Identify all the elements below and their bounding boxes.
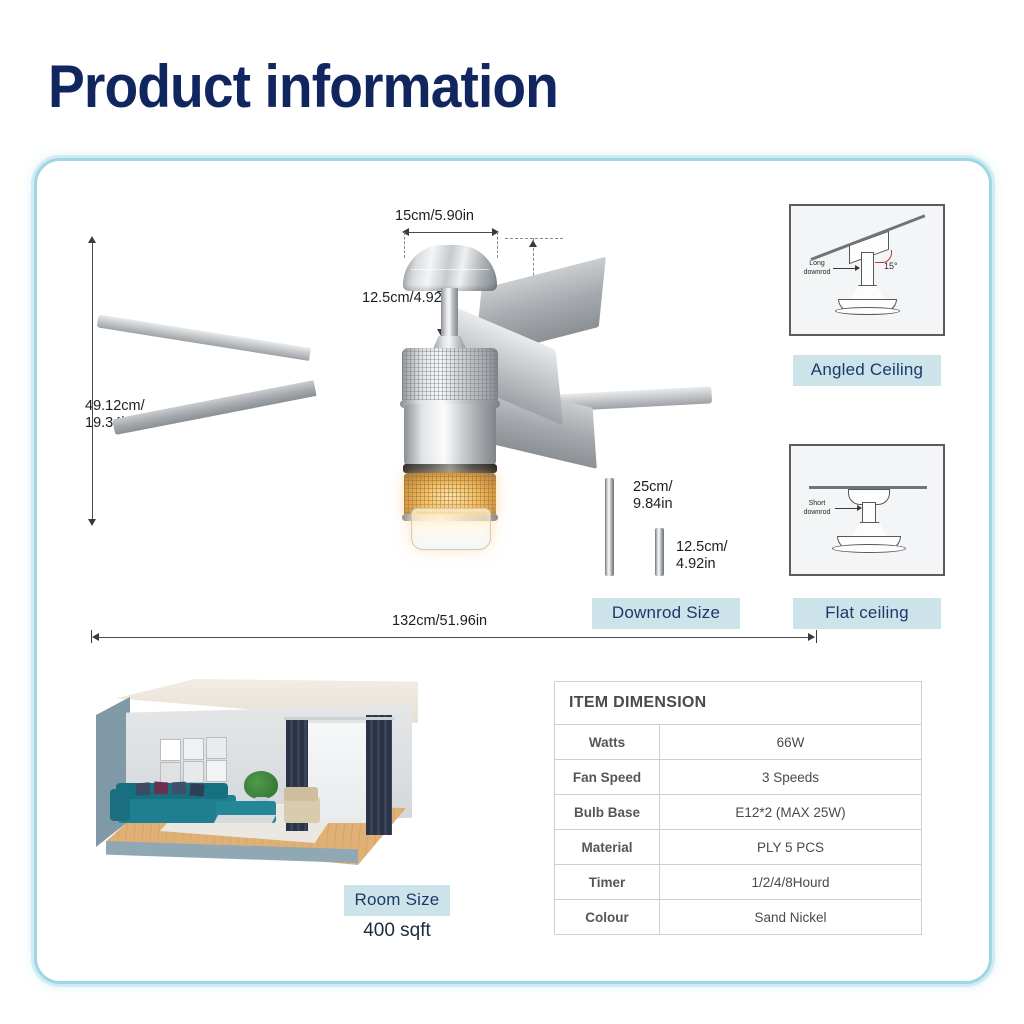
picture-frame — [183, 738, 204, 760]
table-row: Bulb Base E12*2 (MAX 25W) — [555, 795, 922, 830]
row-value-bulb-base: E12*2 (MAX 25W) — [660, 795, 922, 830]
blade-span-label: 132cm/51.96in — [392, 613, 487, 630]
picture-frame — [206, 737, 227, 759]
row-value-colour: Sand Nickel — [660, 900, 922, 935]
downrod-long — [605, 478, 614, 576]
row-value-fan-speed: 3 Speeds — [660, 760, 922, 795]
room-size-value: 400 sqft — [344, 920, 450, 942]
picture-frame — [183, 761, 204, 783]
row-key-colour: Colour — [555, 900, 660, 935]
throw-pillow — [135, 782, 150, 795]
sofa-arm — [110, 789, 130, 821]
ceiling-fan-illustration — [300, 230, 630, 540]
span-cap-left — [91, 630, 92, 643]
room-plant — [244, 771, 278, 799]
span-cap-right — [816, 630, 817, 643]
table-row: Fan Speed 3 Speeds — [555, 760, 922, 795]
fan-glass-dome — [411, 508, 491, 550]
page-title: Product information — [48, 52, 558, 121]
angled-downrod — [861, 252, 874, 289]
downrod-size-badge: Downrod Size — [592, 598, 740, 629]
angled-label-arrow — [855, 265, 860, 271]
row-key-watts: Watts — [555, 725, 660, 760]
angled-ceiling-badge: Angled Ceiling — [793, 355, 941, 386]
gallery-wall — [160, 737, 228, 783]
room-illustration — [88, 675, 418, 875]
armchair-back — [284, 787, 318, 801]
coffee-table — [214, 815, 276, 823]
flat-downrod-label: Short downrod — [797, 500, 837, 518]
flat-label-arrow — [857, 505, 862, 511]
row-value-watts: 66W — [660, 725, 922, 760]
throw-pillow — [190, 783, 205, 796]
fan-housing — [394, 348, 506, 533]
angled-downrod-label: Long downrod — [797, 260, 837, 278]
flat-ceiling-badge: Flat ceiling — [793, 598, 941, 629]
row-key-material: Material — [555, 830, 660, 865]
item-dimension-table: ITEM DIMENSION Watts 66W Fan Speed 3 Spe… — [554, 681, 922, 935]
fan-motor-body — [404, 404, 496, 466]
span-arrow-right — [808, 633, 815, 641]
fan-dark-band — [403, 464, 497, 473]
throw-pillow — [154, 782, 169, 795]
curtain-right — [366, 715, 392, 835]
picture-frame — [160, 739, 181, 761]
throw-pillow — [172, 782, 187, 795]
fan-upper-cage — [402, 348, 498, 404]
row-value-timer: 1/2/4/8Hourd — [660, 865, 922, 900]
table-title: ITEM DIMENSION — [555, 682, 922, 725]
blade-span-line — [96, 637, 814, 638]
table-row: Timer 1/2/4/8Hourd — [555, 865, 922, 900]
table-body: ITEM DIMENSION Watts 66W Fan Speed 3 Spe… — [555, 682, 922, 935]
fan-canopy — [403, 245, 497, 291]
flat-ceiling-diagram: Short downrod — [789, 444, 945, 576]
table-row: Material PLY 5 PCS — [555, 830, 922, 865]
downrod-short-label: 12.5cm/ 4.92in — [676, 539, 728, 573]
row-key-fan-speed: Fan Speed — [555, 760, 660, 795]
table-header-row: ITEM DIMENSION — [555, 682, 922, 725]
downrod-short — [655, 528, 664, 576]
angle-15-label: 15° — [884, 261, 898, 271]
room-size-badge: Room Size — [344, 885, 450, 916]
table-row: Watts 66W — [555, 725, 922, 760]
row-key-timer: Timer — [555, 865, 660, 900]
product-information-page: Product information 49.12cm/ 19.34in 15c… — [0, 0, 1024, 1024]
angled-ceiling-diagram: Long downrod 15° — [789, 204, 945, 336]
picture-frame — [206, 760, 227, 782]
fan-downrod — [441, 288, 458, 340]
flat-fan-base-rim — [832, 544, 906, 553]
downrod-long-label: 25cm/ 9.84in — [633, 479, 673, 513]
row-value-material: PLY 5 PCS — [660, 830, 922, 865]
angled-fan-base-rim — [835, 307, 900, 315]
canopy-width-label: 15cm/5.90in — [395, 208, 474, 225]
height-arrow-bottom — [88, 519, 96, 526]
table-row: Colour Sand Nickel — [555, 900, 922, 935]
picture-frame — [160, 762, 181, 784]
curtain-rod — [284, 717, 394, 720]
height-dimension-line — [92, 241, 93, 519]
row-key-bulb-base: Bulb Base — [555, 795, 660, 830]
